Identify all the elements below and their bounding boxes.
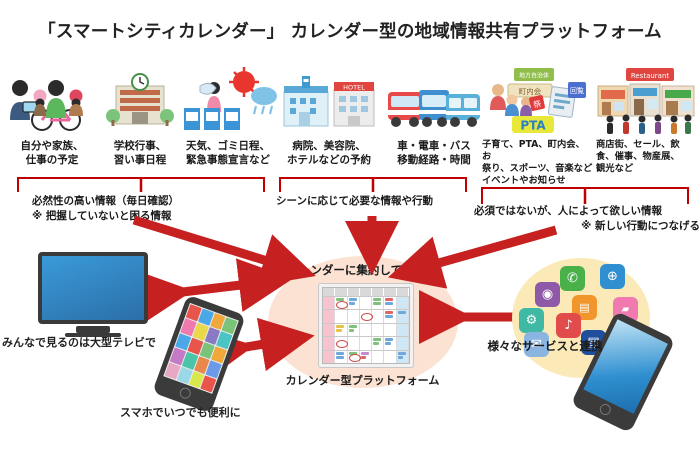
platform-caption: カレンダー型プラットフォーム [255,372,470,388]
hospital-hotel-icon: HOTEL [280,72,378,134]
arrow-scene-to-center [360,214,384,258]
weather-garbage-icon [178,68,278,134]
train-bus-icon [386,76,482,134]
svg-text:HOTEL: HOTEL [343,84,365,92]
svg-text:Restaurant: Restaurant [631,72,670,80]
camera-icon[interactable]: ◉ [535,282,560,307]
page-title: 「スマートシティカレンダー」 カレンダー型の地域情報共有プラットフォーム [0,18,700,43]
svg-text:回覧: 回覧 [570,86,584,95]
column-label-booking: 病院、美容院、 ホテルなどの予約 [274,140,384,168]
arrow-center-tv [152,276,280,302]
services-label: 様々なサービスと連携 [470,338,620,354]
column-label-family: 自分や家族、 仕事の予定 [2,140,102,168]
smartphone-illustration [152,295,246,414]
note-essential-line1: 必然性の高い情報（毎日確認） [32,194,262,209]
phone-label: スマホでいつでも便利に [120,404,320,420]
shopping-street-icon: Restaurant [596,66,696,136]
brace-scene [278,172,468,194]
column-label-transit: 車・電車・バス 移動経路・時間 [382,140,486,168]
svg-text:PTA: PTA [520,119,546,133]
note-optional-line1: 必須ではないが、人によって欲しい情報 [474,204,700,219]
brace-optional [480,182,690,204]
television-illustration [38,252,148,330]
column-label-school: 学校行事、 習い事日程 [100,140,180,168]
globe-icon[interactable]: ⊕ [600,264,625,289]
family-bicycle-icon [6,72,98,134]
school-building-icon [104,72,176,134]
gear-icon[interactable]: ⚙ [519,308,544,333]
note-scene-line1: シーンに応じて必要な情報や行動 [276,194,476,209]
pta-community-icon: 地方自治体 町内会 祭 回覧 PTA [486,66,592,136]
column-label-weather: 天気、ゴミ日程、 緊急事態宣言など [174,140,282,168]
arrow-essential-to-center [130,216,310,276]
column-label-community: 子育て、PTA、町内会、お 祭り、スポーツ、音楽など イベントやお知らせ [482,139,594,187]
svg-text:町内会: 町内会 [519,86,542,96]
calendar-widget[interactable] [318,283,414,368]
column-label-shopping: 商店街、セール、飲 食、催事、物産展、 観光など [596,139,692,175]
note-scene: シーンに応じて必要な情報や行動 [276,194,476,209]
tv-label: みんなで見るのは大型テレビで [2,334,192,350]
infographic-canvas: 「スマートシティカレンダー」 カレンダー型の地域情報共有プラットフォーム 自分や… [0,0,700,452]
phone-icon[interactable]: ✆ [560,266,585,291]
svg-text:地方自治体: 地方自治体 [519,72,549,80]
brace-essential [16,172,266,194]
music-icon[interactable]: ♪ [556,313,581,338]
